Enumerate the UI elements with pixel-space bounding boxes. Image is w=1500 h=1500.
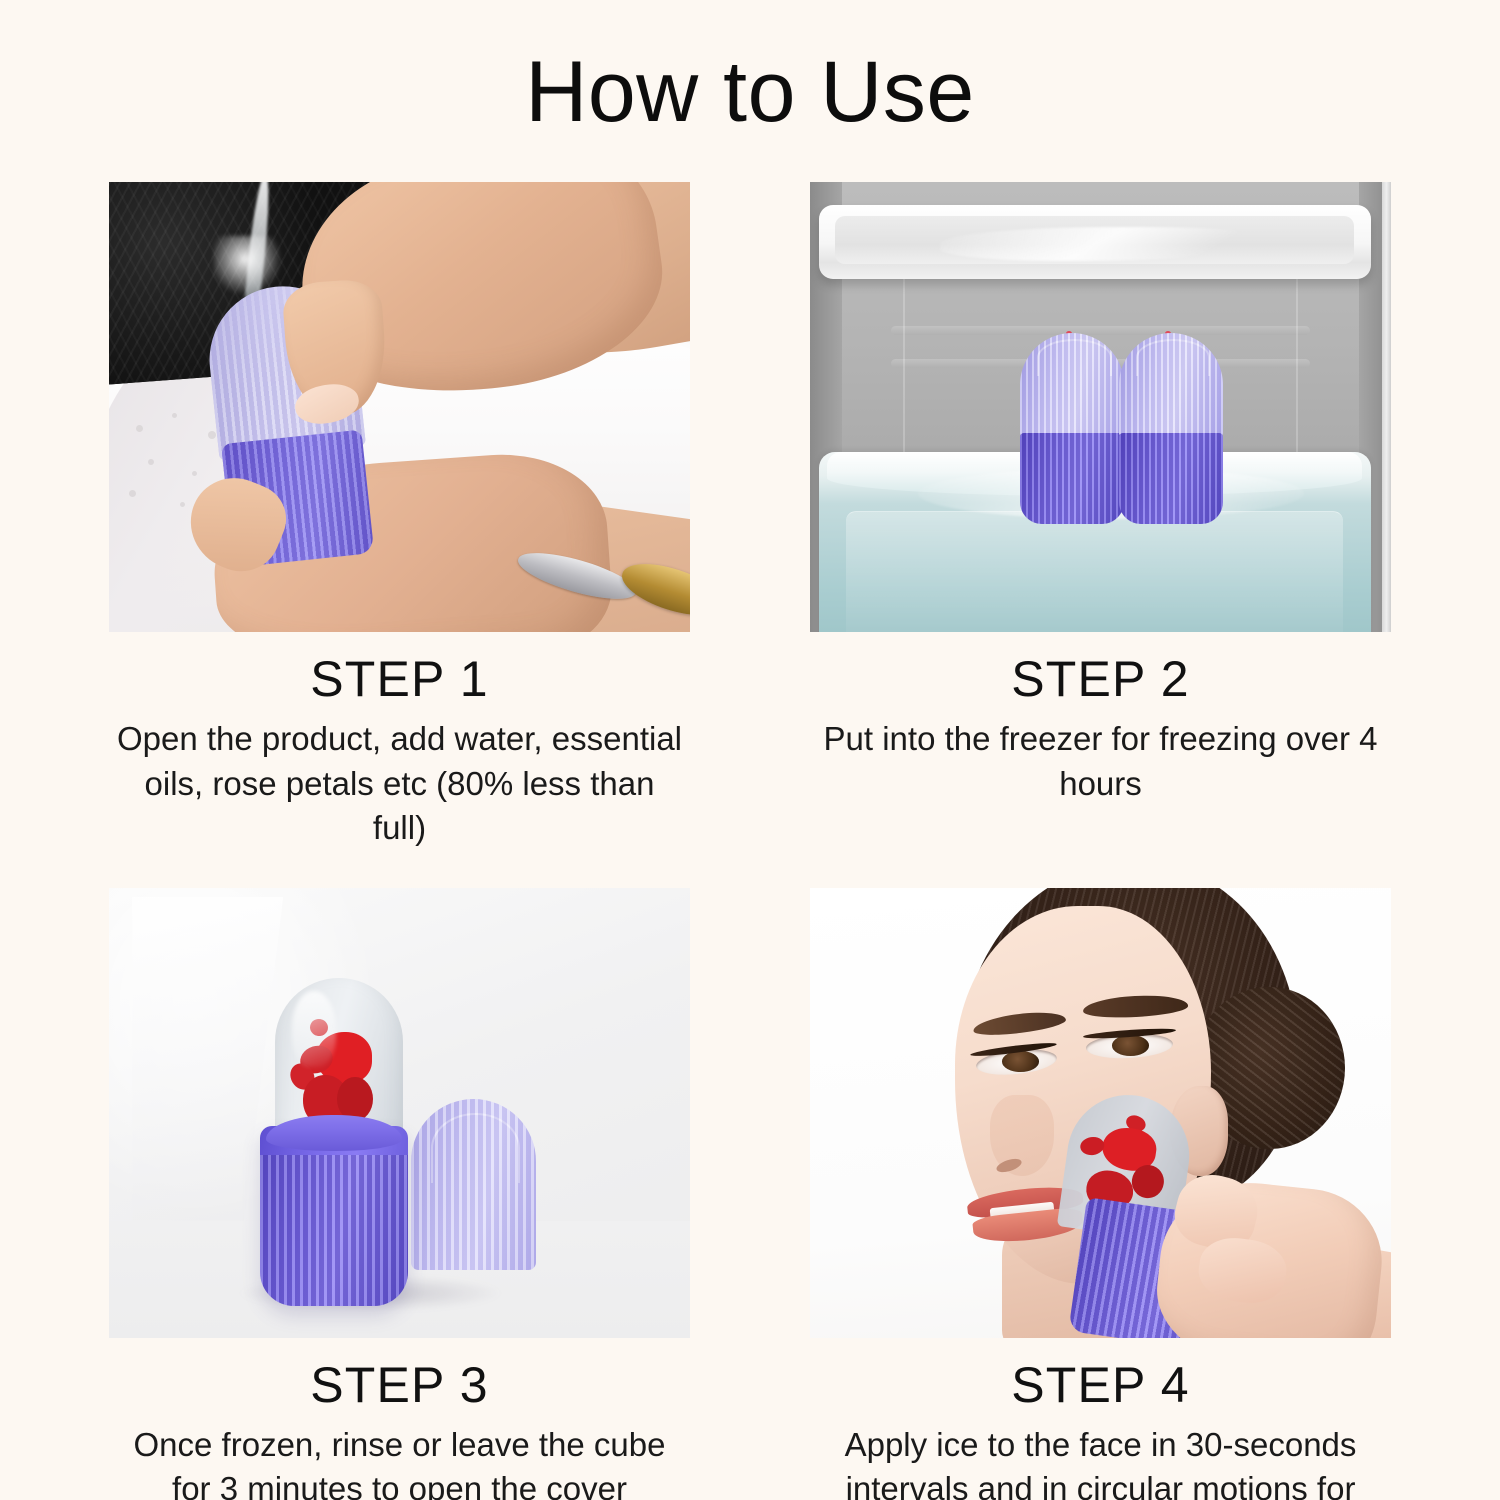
- roller-base: [1020, 433, 1124, 524]
- roller-cap: [1020, 333, 1124, 437]
- how-to-use-infographic: How to Use: [0, 0, 1500, 1500]
- detached-roller-cap: [411, 1099, 536, 1270]
- drawer-front-face: [846, 511, 1343, 632]
- model-iris-left: [1002, 1051, 1039, 1072]
- step-3-description: Once frozen, rinse or leave the cube for…: [109, 1423, 690, 1500]
- fridge-shelf: [819, 205, 1371, 279]
- step-4-caption: STEP 4: [810, 1358, 1391, 1413]
- step-2-description: Put into the freezer for freezing over 4…: [810, 717, 1391, 806]
- ice-roller-left: [1020, 333, 1124, 522]
- step-card-2: STEP 2 Put into the freezer for freezing…: [810, 182, 1391, 851]
- page-title: How to Use: [0, 44, 1500, 140]
- step-2-caption: STEP 2: [810, 652, 1391, 707]
- step-1-image: [109, 182, 690, 632]
- step-1-description: Open the product, add water, essential o…: [109, 717, 690, 851]
- step-2-image: [810, 182, 1391, 632]
- rose-petal: [1079, 1135, 1106, 1156]
- step-card-1: STEP 1 Open the product, add water, esse…: [109, 182, 690, 851]
- step-1-caption: STEP 1: [109, 652, 690, 707]
- steps-grid: STEP 1 Open the product, add water, esse…: [109, 182, 1391, 1500]
- model-iris-right: [1112, 1035, 1149, 1056]
- water-splash: [214, 236, 284, 294]
- step-card-3: STEP 3 Once frozen, rinse or leave the c…: [109, 888, 690, 1500]
- fridge-door-edge: [1382, 182, 1391, 632]
- roller-cap: [1119, 333, 1223, 437]
- ice-roller-right: [1119, 333, 1223, 522]
- step-3-image: [109, 888, 690, 1338]
- roller-base: [260, 1126, 408, 1306]
- step-4-description: Apply ice to the face in 30-seconds inte…: [810, 1423, 1391, 1500]
- roller-base-lip: [266, 1115, 402, 1151]
- ice-highlight: [292, 991, 336, 1066]
- step-card-4: STEP 4 Apply ice to the face in 30-secon…: [810, 888, 1391, 1500]
- step-4-image: [810, 888, 1391, 1338]
- step-3-caption: STEP 3: [109, 1358, 690, 1413]
- roller-base: [1119, 433, 1223, 524]
